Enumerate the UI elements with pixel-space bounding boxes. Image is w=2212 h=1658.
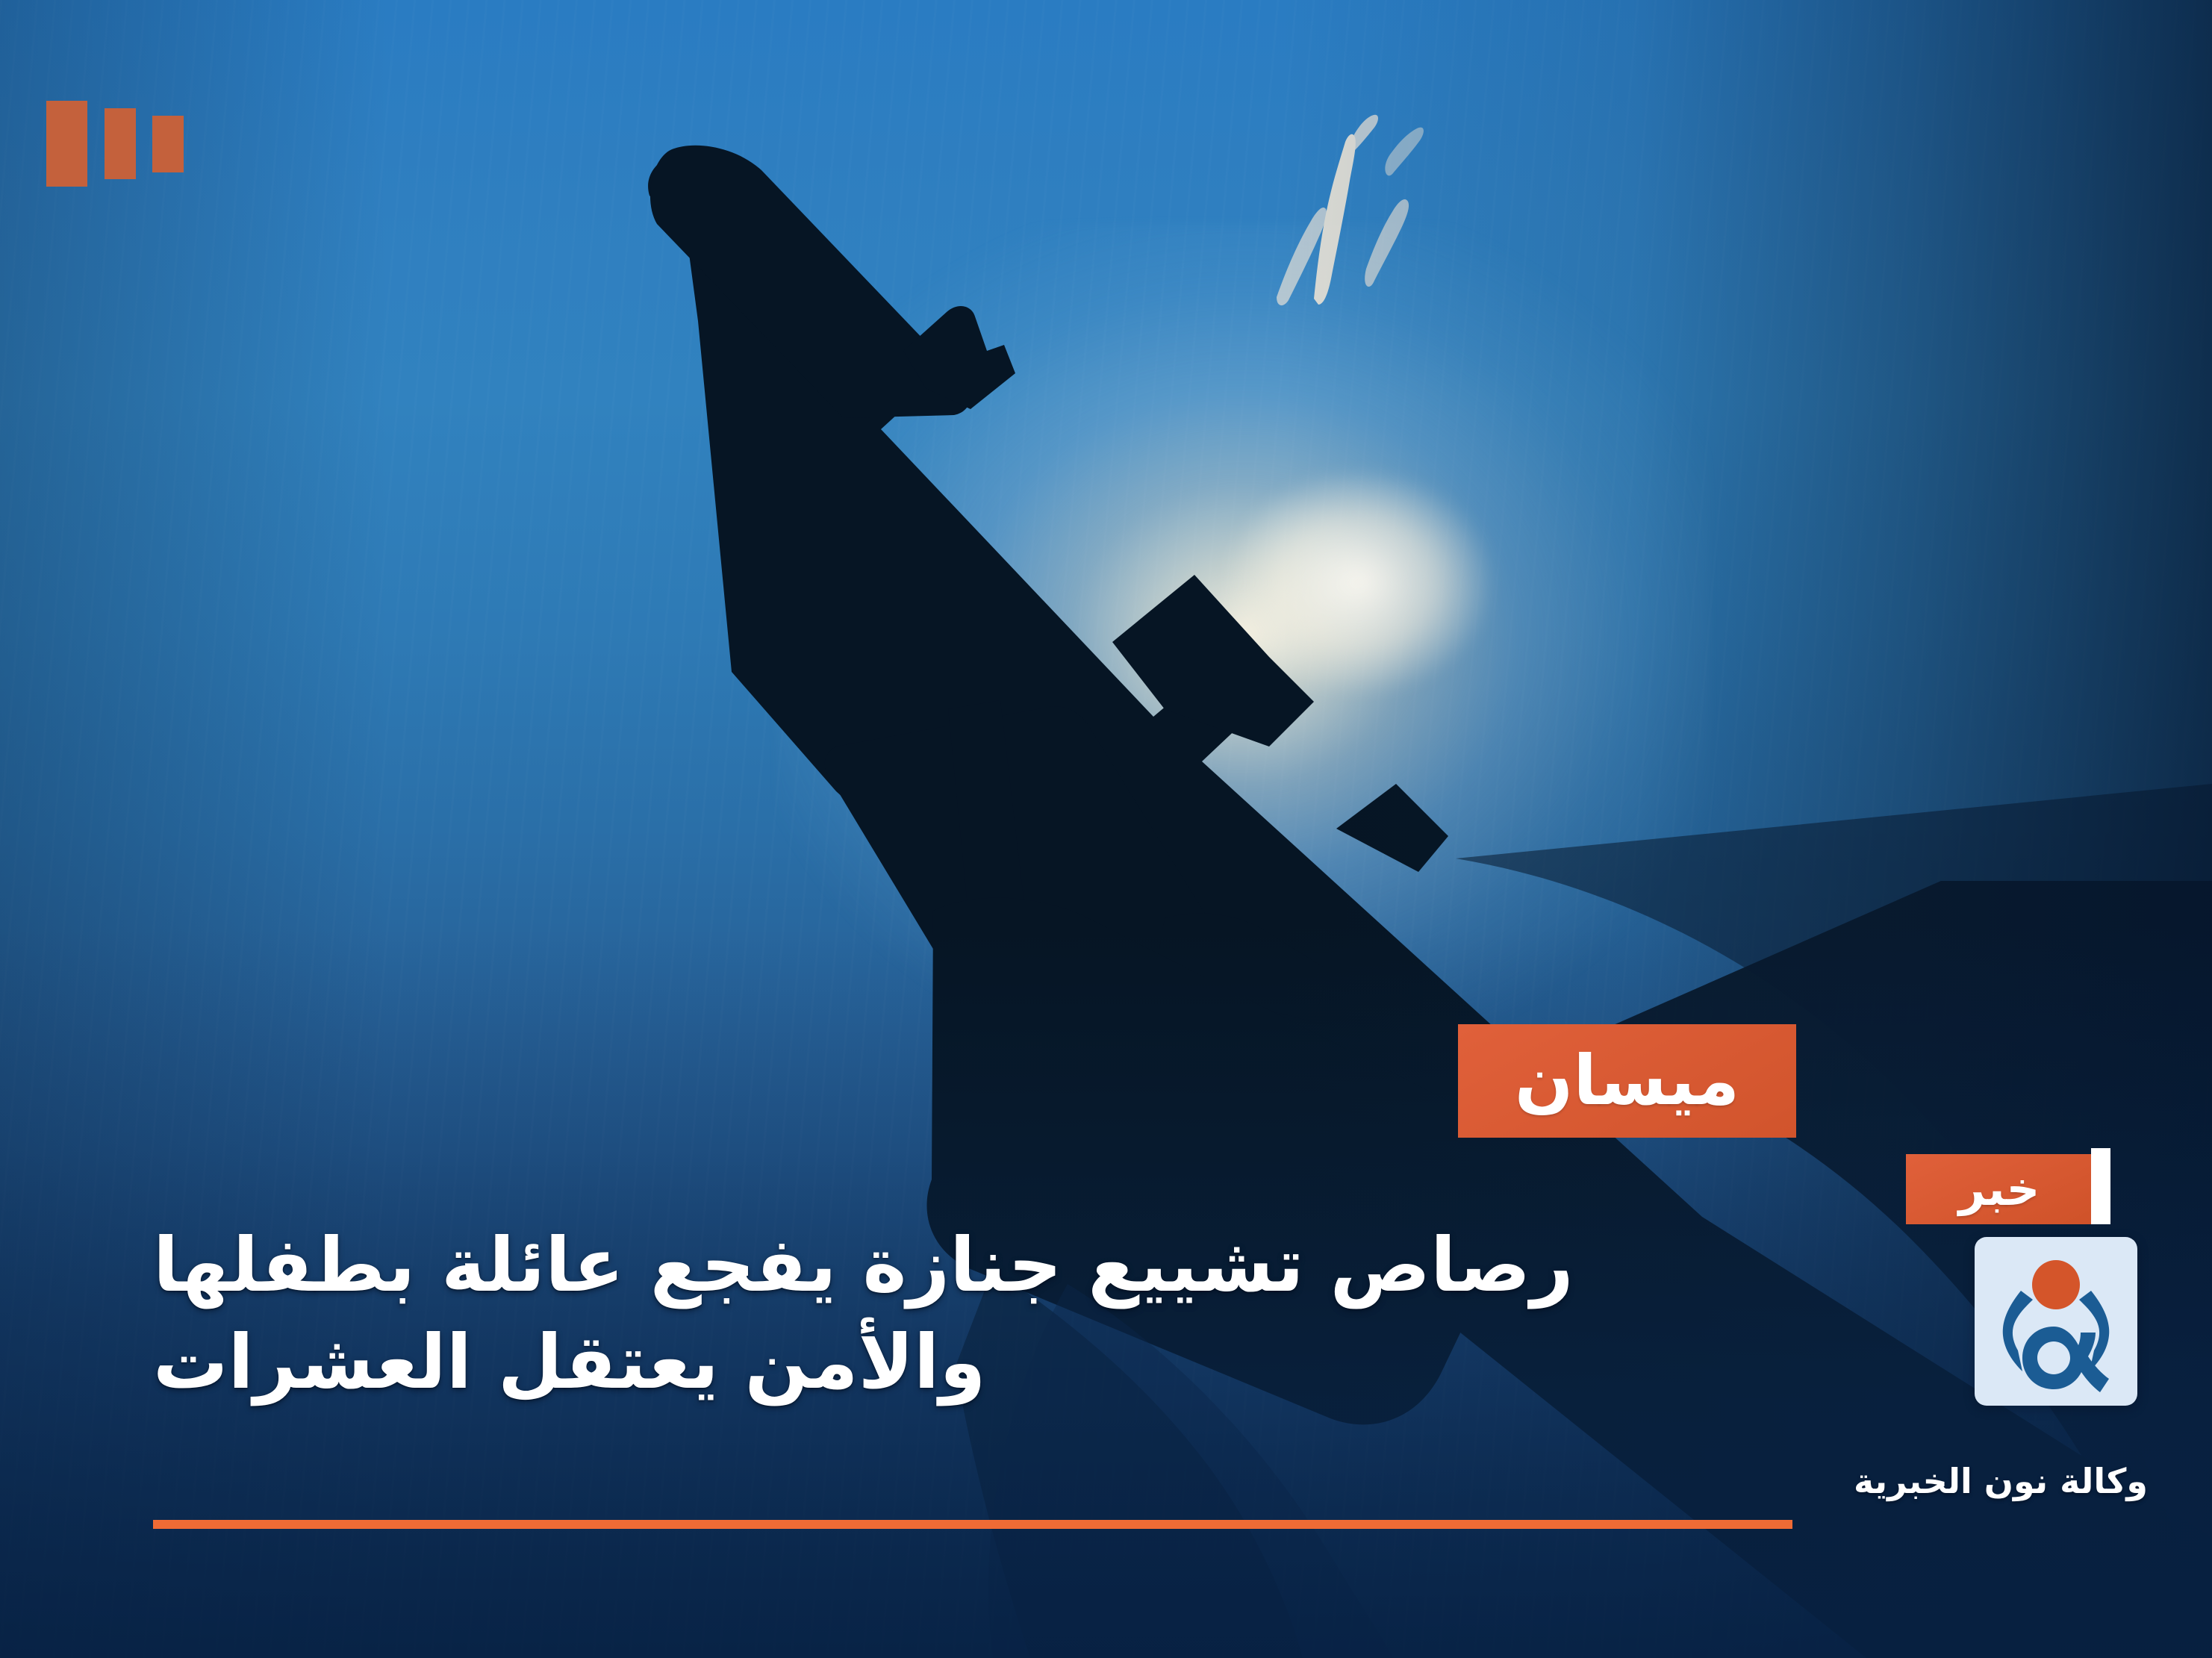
accent-rule <box>153 1520 1792 1529</box>
khabar-badge-label: خبر <box>1959 1166 2040 1212</box>
news-card: ميسان رصاص تشييع جنازة يفجع عائلة بطفلها… <box>0 0 2212 1658</box>
agency-name: وكالة نون الخبرية <box>1844 1461 2158 1502</box>
watermark-bar-1 <box>46 101 87 187</box>
khabar-badge-group: خبر <box>1906 1148 2122 1224</box>
location-badge-label: ميسان <box>1515 1047 1739 1115</box>
watermark-bar-3 <box>152 116 184 172</box>
headline-line-2: والأمن يعتقل العشرات <box>153 1314 1792 1411</box>
headline: رصاص تشييع جنازة يفجع عائلة بطفلها والأم… <box>153 1217 1792 1411</box>
watermark-bar-2 <box>105 108 136 179</box>
khabar-white-tick <box>2091 1148 2110 1224</box>
headline-line-1: رصاص تشييع جنازة يفجع عائلة بطفلها <box>153 1217 1792 1314</box>
location-badge: ميسان <box>1458 1024 1796 1138</box>
agency-logo <box>1975 1237 2137 1406</box>
noon-agency-logo-icon <box>1975 1237 2137 1406</box>
khabar-badge: خبر <box>1906 1154 2093 1224</box>
